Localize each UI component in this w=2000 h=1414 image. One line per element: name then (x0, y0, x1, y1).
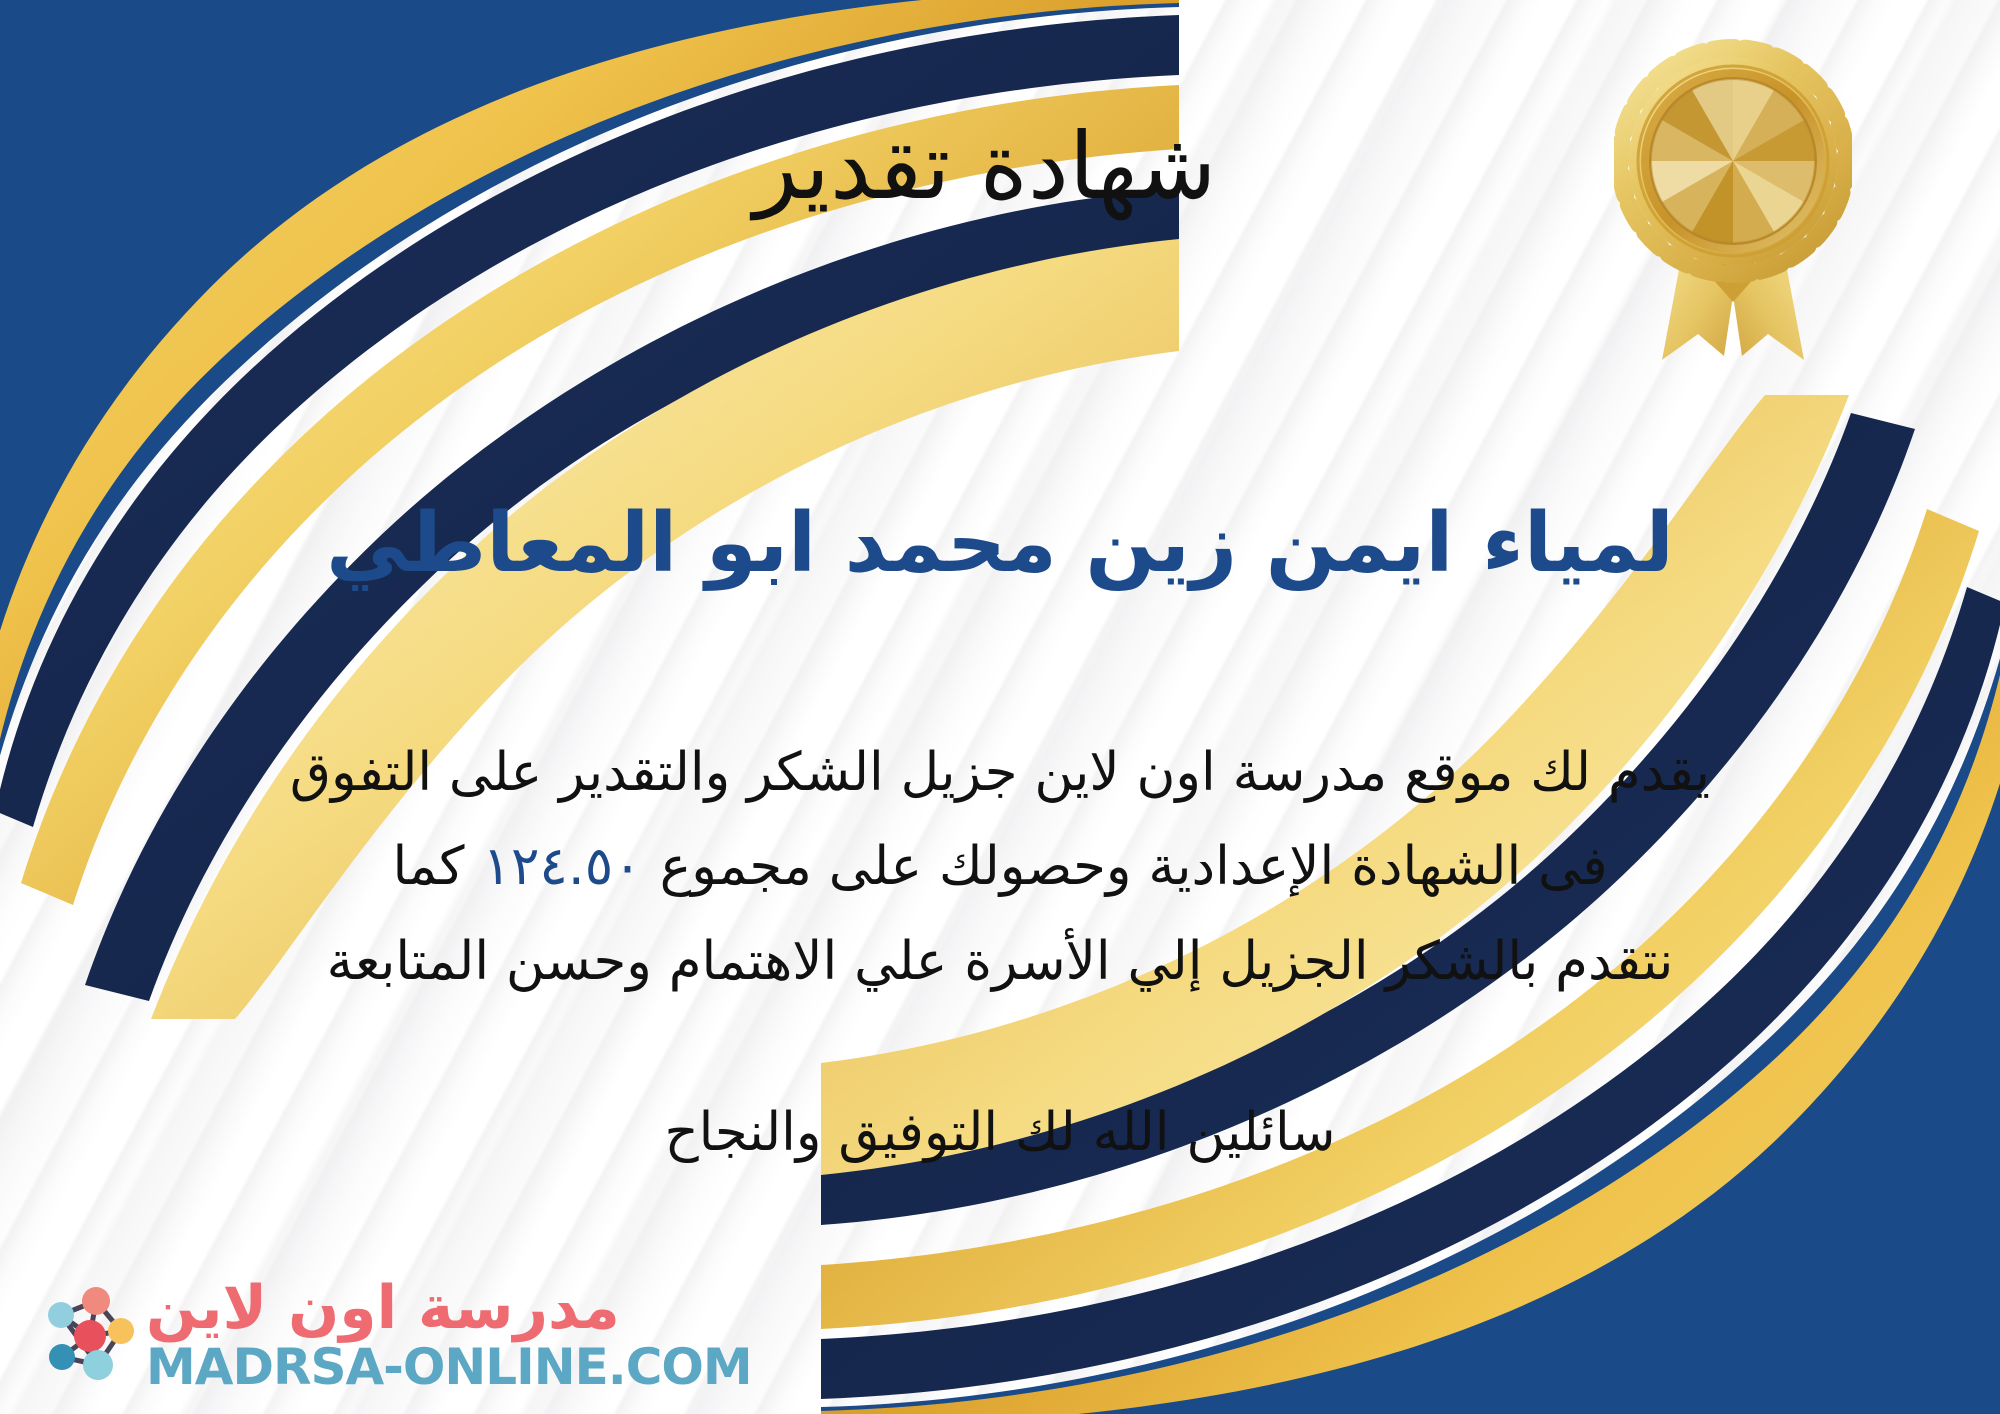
network-nodes-icon (28, 1279, 140, 1391)
recipient-name: لمياء ايمن زين محمد ابو المعاطي (170, 496, 1830, 591)
logo-website: MADRSA-ONLINE.COM (146, 1342, 752, 1392)
body-line-2: فى الشهادة الإعدادية وحصولك على مجموع١٢٤… (90, 820, 1910, 914)
certificate-content: شهادة تقدير لمياء ايمن زين محمد ابو المع… (0, 0, 2000, 1414)
certificate-page: شهادة تقدير لمياء ايمن زين محمد ابو المع… (0, 0, 2000, 1414)
body-line-2-prefix: فى الشهادة الإعدادية وحصولك على مجموع (660, 836, 1608, 897)
body-line-2-suffix: كما (392, 836, 464, 897)
certificate-body: يقدم لك موقع مدرسة اون لاين جزيل الشكر و… (90, 726, 1910, 1009)
score-value: ١٢٤.٥٠ (465, 836, 660, 897)
brand-logo[interactable]: مدرسة اون لاين MADRSA-ONLINE.COM (28, 1278, 752, 1392)
logo-arabic-name: مدرسة اون لاين (146, 1278, 620, 1338)
logo-text-group: مدرسة اون لاين MADRSA-ONLINE.COM (146, 1278, 752, 1392)
closing-line: سائلين الله لك التوفيق والنجاح (0, 1093, 2000, 1173)
body-line-1: يقدم لك موقع مدرسة اون لاين جزيل الشكر و… (90, 726, 1910, 820)
certificate-title: شهادة تقدير (0, 116, 2000, 217)
body-line-3: نتقدم بالشكر الجزيل إلي الأسرة علي الاهت… (90, 915, 1910, 1009)
